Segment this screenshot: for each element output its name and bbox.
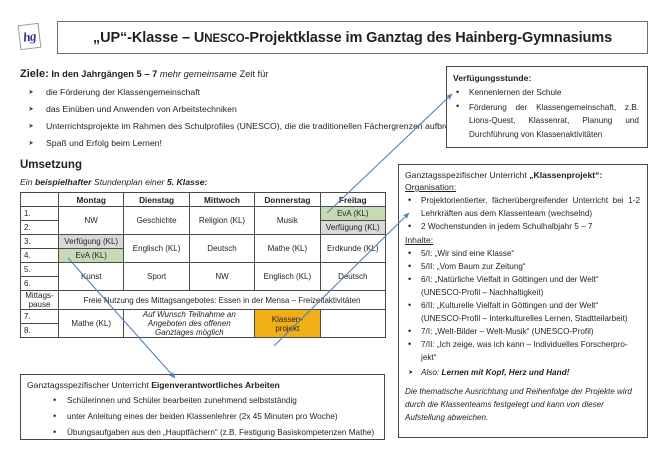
document-page: hg „UP“-Klasse – UNESCO-Projektklasse im… [0, 0, 666, 471]
hour-label-7: 7. [21, 310, 59, 324]
implementation-heading: Umsetzung [20, 159, 82, 171]
conclusion-list: Also: Lernen mit Kopf, Herz und Hand! [405, 366, 640, 379]
goals-list-item: die Förderung der Klassengemeinschaft [28, 84, 469, 101]
cell-lunch-text: Freie Nutzung des Mittagsangebotes: Esse… [59, 291, 386, 310]
subtitle-part3: Stundenplan einer [94, 177, 165, 187]
goals-heading-label: Ziele: [20, 68, 49, 80]
cell-mon-7-8: Mathe (KL) [59, 310, 124, 338]
list-item: 5/II: „Vom Baum zur Zeitung“ [405, 260, 640, 273]
table-row: 5. Kunst Sport NW Englisch (KL) Deutsch [21, 263, 386, 277]
cell-mon-1-2: NW [59, 207, 124, 235]
list-item: 7/I: „Welt-Bilder – Welt-Musik“ (UNESCO-… [405, 325, 640, 338]
cell-fri-5-6: Deutsch [320, 263, 385, 291]
klassenprojekt-footnote: Die thematische Ausrichtung und Reihenfo… [405, 385, 640, 424]
cell-fri-7-8 [320, 310, 385, 338]
project-line1: Klassen- [272, 315, 303, 324]
eva-title: Ganztagsspezifischer Unterricht Eigenver… [27, 380, 376, 390]
project-line2: projekt [275, 324, 299, 333]
hour-label-6: 6. [21, 277, 59, 291]
klassenprojekt-title: Ganztagsspezifischer Unterricht „Klassen… [405, 170, 640, 180]
cell-thu-5-6: Englisch (KL) [255, 263, 320, 291]
cell-wed-5-6: NW [189, 263, 254, 291]
cell-wed-1-2: Religion (KL) [189, 207, 254, 235]
organisation-label: Organisation: [405, 182, 640, 192]
lunch-label-line1: Mittags- [25, 291, 53, 300]
hour-label-4: 4. [21, 249, 59, 263]
col-header-thursday: Donnerstag [255, 193, 320, 207]
list-item: Kennenlernen der Schule [453, 86, 639, 100]
col-header-blank [21, 193, 59, 207]
col-header-monday: Montag [59, 193, 124, 207]
cell-mon-3-verfuegung: Verfügung (KL) [59, 235, 124, 249]
goals-list: die Förderung der Klassengemeinschaft da… [28, 84, 469, 152]
cell-mon-5-6: Kunst [59, 263, 124, 291]
klassenprojekt-box: Ganztagsspezifischer Unterricht „Klassen… [398, 164, 648, 438]
eva-title-bold: Eigenverantwortliches Arbeiten [151, 380, 280, 390]
list-item: Schülerinnen und Schüler bearbeiten zune… [27, 393, 376, 408]
organisation-list: Projektorientierter, fächerübergreifende… [405, 194, 640, 233]
list-item: 7/II: „Ich zeige, was ich kann – Individ… [405, 338, 640, 364]
verfuegungsstunde-title: Verfügungsstunde: [453, 73, 639, 83]
hour-label-8: 8. [21, 324, 59, 338]
logo-text: hg [16, 21, 42, 53]
col-header-tuesday: Dienstag [124, 193, 189, 207]
subtitle-part1: Ein [20, 177, 33, 187]
hour-label-3: 3. [21, 235, 59, 249]
klassenprojekt-title-prefix: Ganztagsspezifischer Unterricht [405, 170, 529, 180]
eigenverantwortliches-arbeiten-box: Ganztagsspezifischer Unterricht Eigenver… [20, 374, 385, 440]
list-item: Übungsaufgaben aus den „Hauptfächern“ (z… [27, 425, 376, 440]
cell-fri-3-4: Erdkunde (KL) [320, 235, 385, 263]
col-header-friday: Freitag [320, 193, 385, 207]
list-item: 5/I: „Wir sind eine Klasse“ [405, 247, 640, 260]
conclusion-bold: Lernen mit Kopf, Herz und Hand! [441, 368, 569, 377]
conclusion-prefix: Also: [421, 368, 441, 377]
cell-fri-2-verfuegung: Verfügung (KL) [320, 221, 385, 235]
open-offer-line1: Auf Wunsch Teilnahme an [143, 310, 236, 319]
list-item: 6/I: „Natürliche Vielfalt in Göttingen u… [405, 273, 640, 299]
cell-tue-1-2: Geschichte [124, 207, 189, 235]
goals-heading-part1: In den Jahrgängen 5 – 7 [51, 69, 157, 79]
eva-title-prefix: Ganztagsspezifischer Unterricht [27, 380, 151, 390]
cell-mon-4-eva: EvA (KL) [59, 249, 124, 263]
title-part-unesco: NESCO [204, 33, 244, 45]
page-title: „UP“-Klasse – UNESCO-Projektklasse im Ga… [93, 30, 612, 46]
klassenprojekt-title-bold: „Klassenprojekt“: [529, 170, 602, 180]
goals-list-item: Spaß und Erfolg beim Lernen! [28, 135, 469, 152]
list-item: Projektorientierter, fächerübergreifende… [405, 194, 640, 220]
verfuegungsstunde-box: Verfügungsstunde: Kennenlernen der Schul… [446, 66, 648, 148]
inhalte-label: Inhalte: [405, 235, 640, 245]
table-row: 3. Verfügung (KL) Englisch (KL) Deutsch … [21, 235, 386, 249]
title-part-prefix: „UP“-Klasse – U [93, 30, 204, 46]
subtitle-part4: 5. Klasse: [167, 177, 208, 187]
cell-klassenprojekt: Klassen-projekt [255, 310, 320, 338]
open-offer-line2: Angeboten des offenen [148, 319, 231, 328]
cell-wed-3-4: Deutsch [189, 235, 254, 263]
cell-thu-1-2: Musik [255, 207, 320, 235]
table-header-row: Montag Dienstag Mittwoch Donnerstag Frei… [21, 193, 386, 207]
school-logo: hg [18, 22, 44, 52]
hour-label-5: 5. [21, 263, 59, 277]
verfuegungsstunde-title-text: Verfügungsstunde: [453, 73, 531, 83]
goals-heading-part2: mehr [160, 69, 181, 79]
cell-fri-1-eva: EvA (KL) [320, 207, 385, 221]
verfuegungsstunde-list: Kennenlernen der Schule Förderung der Kl… [453, 86, 639, 141]
eva-list: Schülerinnen und Schüler bearbeiten zune… [27, 393, 376, 440]
title-part-mid: -P [245, 30, 259, 46]
hour-label-1: 1. [21, 207, 59, 221]
table-row: 7. Mathe (KL) Auf Wunsch Teilnahme anAng… [21, 310, 386, 324]
goals-heading-part3: gemeinsame [184, 69, 237, 79]
conclusion-item: Also: Lernen mit Kopf, Herz und Hand! [405, 366, 640, 379]
table-row: 1. NW Geschichte Religion (KL) Musik EvA… [21, 207, 386, 221]
cell-open-offer: Auf Wunsch Teilnahme anAngeboten des off… [124, 310, 255, 338]
goals-list-item: Unterrichtsprojekte im Rahmen des Schulp… [28, 118, 469, 135]
goals-heading-part4: Zeit für [239, 69, 268, 79]
hour-label-2: 2. [21, 221, 59, 235]
hour-label-lunch: Mittags-pause [21, 291, 59, 310]
cell-tue-3-4: Englisch (KL) [124, 235, 189, 263]
list-item: Förderung der Klassengemeinschaft, z.B. … [453, 101, 639, 142]
open-offer-line3: Ganztages möglich [155, 328, 223, 337]
inhalte-list: 5/I: „Wir sind eine Klasse“ 5/II: „Vom B… [405, 247, 640, 364]
cell-tue-5-6: Sport [124, 263, 189, 291]
goals-list-item: das Einüben und Anwenden von Arbeitstech… [28, 101, 469, 118]
list-item: 6/II: „Kulturelle Vielfalt in Göttingen … [405, 299, 640, 325]
implementation-subtitle: Ein beispielhafter Stundenplan einer 5. … [20, 177, 207, 187]
lunch-label-line2: pause [29, 300, 51, 309]
document-title-box: „UP“-Klasse – UNESCO-Projektklasse im Ga… [57, 21, 648, 54]
timetable: Montag Dienstag Mittwoch Donnerstag Frei… [20, 192, 386, 338]
col-header-wednesday: Mittwoch [189, 193, 254, 207]
subtitle-part2: beispielhafter [35, 177, 92, 187]
goals-heading: Ziele: In den Jahrgängen 5 – 7 mehr geme… [20, 68, 268, 80]
list-item: 2 Wochenstunden in jedem Schulhalbjahr 5… [405, 220, 640, 233]
table-row-lunch: Mittags-pause Freie Nutzung des Mittagsa… [21, 291, 386, 310]
title-part-rest: rojektklasse im Ganztag des Hainberg-Gym… [259, 30, 612, 46]
list-item: unter Anleitung eines der beiden Klassen… [27, 409, 376, 424]
cell-thu-3-4: Mathe (KL) [255, 235, 320, 263]
